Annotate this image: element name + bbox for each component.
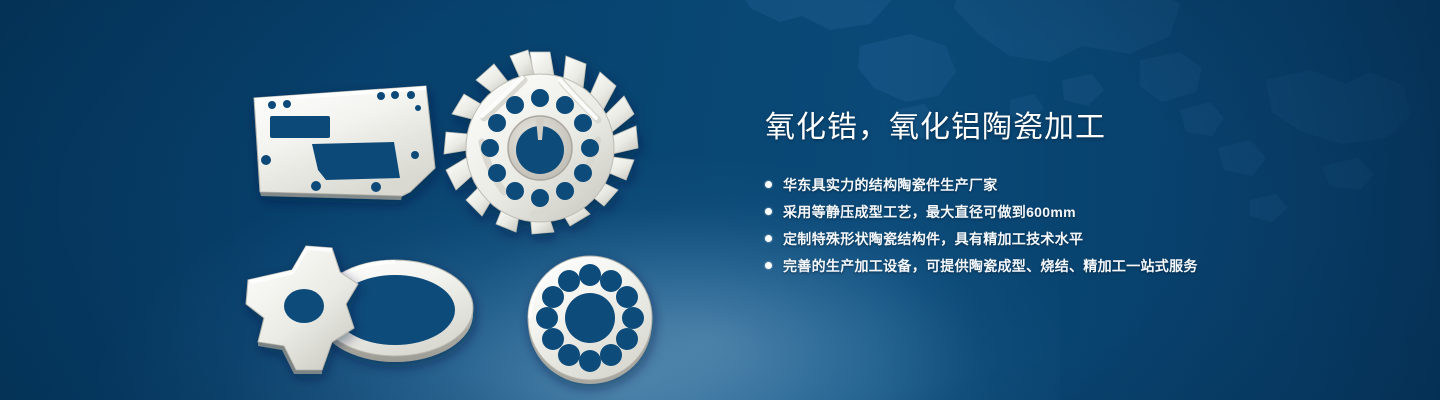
bullet-dot-icon	[765, 262, 772, 269]
bullet-dot-icon	[765, 208, 772, 215]
ceramic-products-group	[230, 40, 730, 385]
list-item-label: 完善的生产加工设备，可提供陶瓷成型、烧结、精加工一站式服务	[783, 256, 1198, 276]
banner-copy: 氧化锆，氧化铝陶瓷加工 华东具实力的结构陶瓷件生产厂家 采用等静压成型工艺，最大…	[765, 108, 1385, 279]
promo-banner: 氧化锆，氧化铝陶瓷加工 华东具实力的结构陶瓷件生产厂家 采用等静压成型工艺，最大…	[0, 0, 1440, 400]
ceramic-cross-plate	[246, 246, 358, 374]
list-item: 完善的生产加工设备，可提供陶瓷成型、烧结、精加工一站式服务	[765, 252, 1385, 279]
ceramic-impeller-disc	[444, 50, 638, 234]
bullet-dot-icon	[765, 235, 772, 242]
ceramic-perforated-disc	[528, 256, 652, 384]
page-title: 氧化锆，氧化铝陶瓷加工	[765, 108, 1385, 148]
list-item-label: 采用等静压成型工艺，最大直径可做到600mm	[783, 202, 1076, 222]
list-item: 华东具实力的结构陶瓷件生产厂家	[765, 171, 1385, 198]
feature-list: 华东具实力的结构陶瓷件生产厂家 采用等静压成型工艺，最大直径可做到600mm 定…	[765, 171, 1385, 279]
bullet-dot-icon	[765, 181, 772, 188]
list-item: 定制特殊形状陶瓷结构件，具有精加工技术水平	[765, 225, 1385, 252]
list-item-label: 华东具实力的结构陶瓷件生产厂家	[783, 175, 998, 195]
list-item: 采用等静压成型工艺，最大直径可做到600mm	[765, 198, 1385, 225]
list-item-label: 定制特殊形状陶瓷结构件，具有精加工技术水平	[783, 229, 1083, 249]
ceramic-plate-with-cutouts	[254, 86, 435, 200]
